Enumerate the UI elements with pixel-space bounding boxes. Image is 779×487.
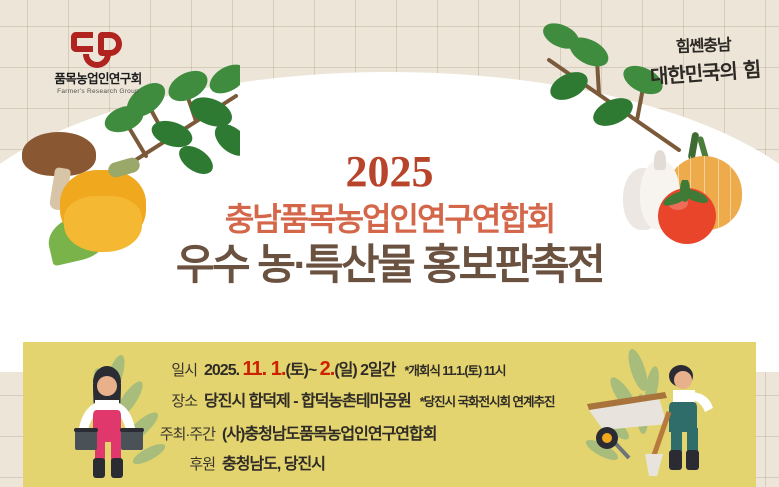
- page-title: 우수 농·특산물 홍보판촉전: [0, 241, 779, 289]
- detail-row-host: 주최·주간 (사)충청남도품목농업인연구연합회: [143, 420, 703, 444]
- calligraphy-slogan: 힘쎈충남 대한민국의 힘: [647, 28, 761, 90]
- detail-row-sponsor: 후원 충청남도, 당진시: [143, 450, 703, 474]
- detail-label-sponsor: 후원: [143, 453, 215, 474]
- date-mid: (토)~: [285, 362, 316, 379]
- organization-title: 충남품목농업인연구연합회: [0, 200, 779, 238]
- detail-label-date: 일시: [143, 359, 197, 380]
- detail-label-host: 주최·주간: [143, 423, 215, 444]
- poster-canvas: 품목농업인연구회 Farmer's Research Group 힘쎈충남 대한…: [0, 0, 779, 487]
- detail-value-date: 2025. 11. 1.(토)~ 2.(일) 2일간: [204, 356, 395, 381]
- detail-value-venue: 당진시 합덕제 - 합덕농촌테마공원: [204, 387, 411, 411]
- detail-row-venue: 장소 당진시 합덕제 - 합덕농촌테마공원 *당진시 국화전시회 연계추진: [143, 387, 703, 411]
- detail-row-date: 일시 2025. 11. 1.(토)~ 2.(일) 2일간 *개회식 11.1.…: [143, 356, 703, 381]
- date-highlight-start: 11. 1.: [243, 358, 286, 380]
- logo-face-icon: [69, 32, 127, 70]
- logo-korean-name: 품목농업인연구회: [42, 73, 154, 87]
- event-details: 일시 2025. 11. 1.(토)~ 2.(일) 2일간 *개회식 11.1.…: [143, 356, 703, 474]
- detail-note-venue: *당진시 국화전시회 연계추진: [420, 391, 555, 410]
- date-prefix: 2025.: [204, 362, 239, 379]
- logo-english-name: Farmer's Research Group: [42, 88, 154, 95]
- date-highlight-end: 2.: [320, 358, 335, 380]
- logo: 품목농업인연구회 Farmer's Research Group: [42, 32, 154, 95]
- detail-value-host: (사)충청남도품목농업인연구연합회: [222, 420, 436, 444]
- detail-note-date: *개회식 11.1.(토) 11시: [404, 360, 505, 379]
- detail-label-venue: 장소: [143, 390, 197, 411]
- title-block: 2025 충남품목농업인연구연합회 우수 농·특산물 홍보판촉전: [0, 150, 779, 290]
- info-panel: 일시 2025. 11. 1.(토)~ 2.(일) 2일간 *개회식 11.1.…: [23, 342, 756, 487]
- detail-value-sponsor: 충청남도, 당진시: [222, 450, 325, 474]
- date-suffix: (일) 2일간: [334, 362, 395, 379]
- event-year: 2025: [0, 150, 779, 194]
- calligraphy-line-1: 힘쎈충남: [647, 30, 758, 58]
